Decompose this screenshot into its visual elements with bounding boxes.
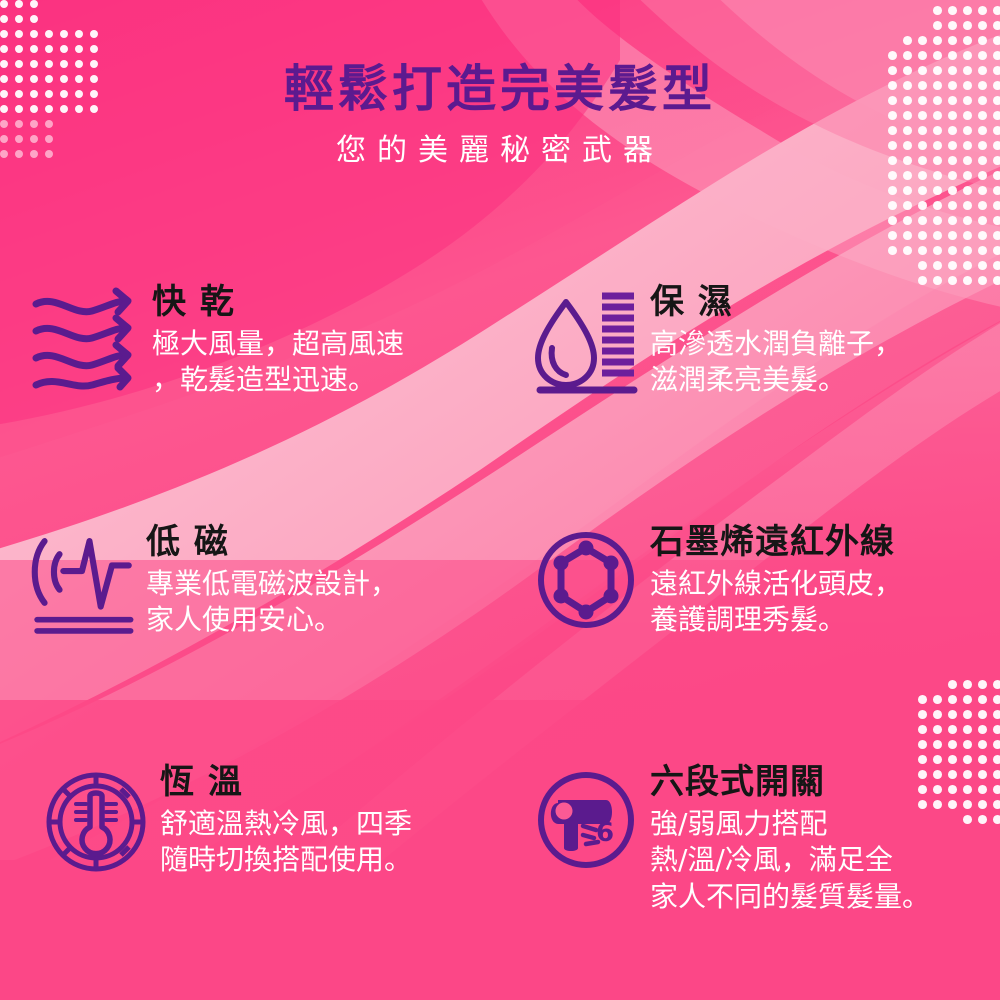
feature-description: 舒適溫熱冷風，四季 隨時切換搭配使用。 [160,806,412,879]
low-electromagnetic-wave-icon [24,524,140,640]
hairdryer-six-mode-icon: 6 [528,764,644,880]
feature-item-graphene-infrared: 石墨烯遠紅外線 遠紅外線活化頭皮， 養護調理秀髮。 [514,524,1000,764]
page-subtitle: 您的美麗秘密武器 [0,133,1000,169]
header: 輕鬆打造完美髮型 您的美麗秘密武器 [0,0,1000,169]
thermostat-dial-icon [38,764,154,880]
feature-heading: 快 乾 [152,284,404,321]
water-droplet-level-icon [528,284,644,400]
feature-grid: 快 乾 極大風量，超高風速 ，乾髮造型迅速。 [0,284,1000,915]
feature-item-fast-dry: 快 乾 極大風量，超高風速 ，乾髮造型迅速。 [16,284,506,524]
feature-heading: 石墨烯遠紅外線 [650,524,902,561]
feature-description: 遠紅外線活化頭皮， 養護調理秀髮。 [650,566,902,639]
feature-heading: 保 濕 [650,284,902,321]
page-title: 輕鬆打造完美髮型 [0,62,1000,117]
feature-description: 專業低電磁波設計， 家人使用安心。 [146,566,398,639]
graphene-hexagon-icon [528,524,644,640]
feature-heading: 恆 溫 [160,764,412,801]
mode-count-badge: 6 [596,818,614,848]
feature-item-low-emf: 低 磁 專業低電磁波設計， 家人使用安心。 [16,524,506,764]
feature-description: 高滲透水潤負離子， 滋潤柔亮美髮。 [650,326,902,399]
feature-description: 強/弱風力搭配 熱/溫/冷風，滿足全 家人不同的髮質髮量。 [650,806,930,915]
feature-item-moisture: 保 濕 高滲透水潤負離子， 滋潤柔亮美髮。 [514,284,1000,524]
feature-item-constant-temperature: 恆 溫 舒適溫熱冷風，四季 隨時切換搭配使用。 [16,764,506,915]
feature-description: 極大風量，超高風速 ，乾髮造型迅速。 [152,326,404,399]
feature-heading: 六段式開關 [650,764,930,801]
feature-item-six-speed-switch: 6 六段式開關 強/弱風力搭配 熱/溫/冷風，滿足全 家人不同的髮質髮量。 [514,764,1000,915]
airflow-arrows-icon [30,284,146,400]
feature-heading: 低 磁 [146,524,398,561]
